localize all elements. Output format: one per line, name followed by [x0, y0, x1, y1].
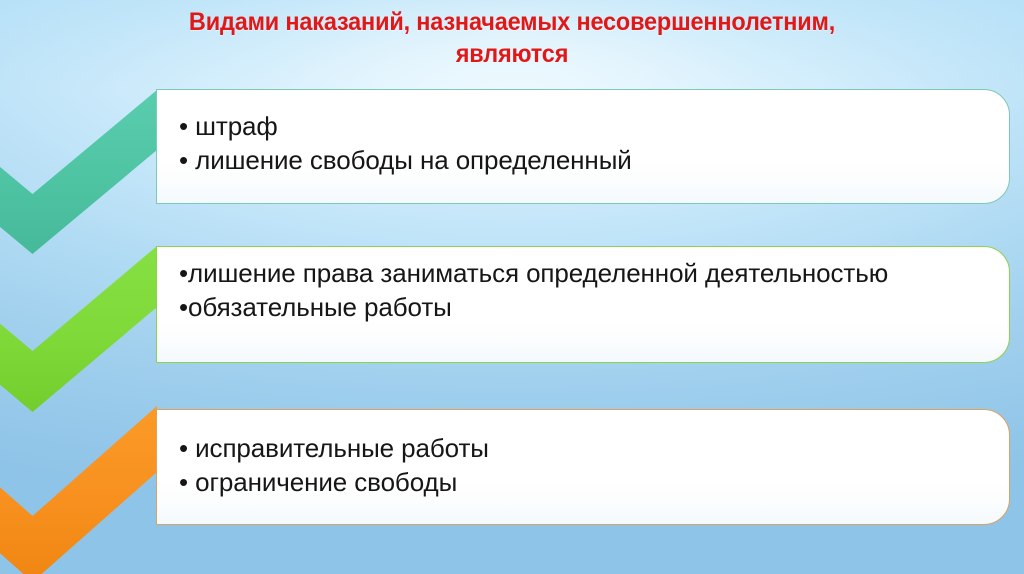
chevron-down-icon [0, 88, 157, 256]
content-box-step-2-text: •лишение права заниматься определенной д… [179, 256, 997, 324]
content-box-step-2: •лишение права заниматься определенной д… [156, 246, 1010, 363]
page-title: Видами наказаний, назначаемых несовершен… [65, 6, 960, 70]
chevron-down-icon-step-1 [0, 88, 157, 256]
slide-canvas: Видами наказаний, назначаемых несовершен… [0, 0, 1024, 574]
chevron-down-icon-step-3 [0, 404, 157, 574]
chevron-down-icon [0, 404, 157, 574]
chevron-down-icon-step-2 [0, 244, 157, 414]
content-box-step-3: • исправительные работы • ограничение св… [156, 409, 1010, 525]
content-box-step-1-text: • штраф • лишение свободы на определенны… [179, 109, 997, 177]
content-box-step-3-text: • исправительные работы • ограничение св… [179, 431, 997, 499]
chevron-down-icon [0, 244, 157, 414]
content-box-step-1: • штраф • лишение свободы на определенны… [156, 89, 1010, 204]
